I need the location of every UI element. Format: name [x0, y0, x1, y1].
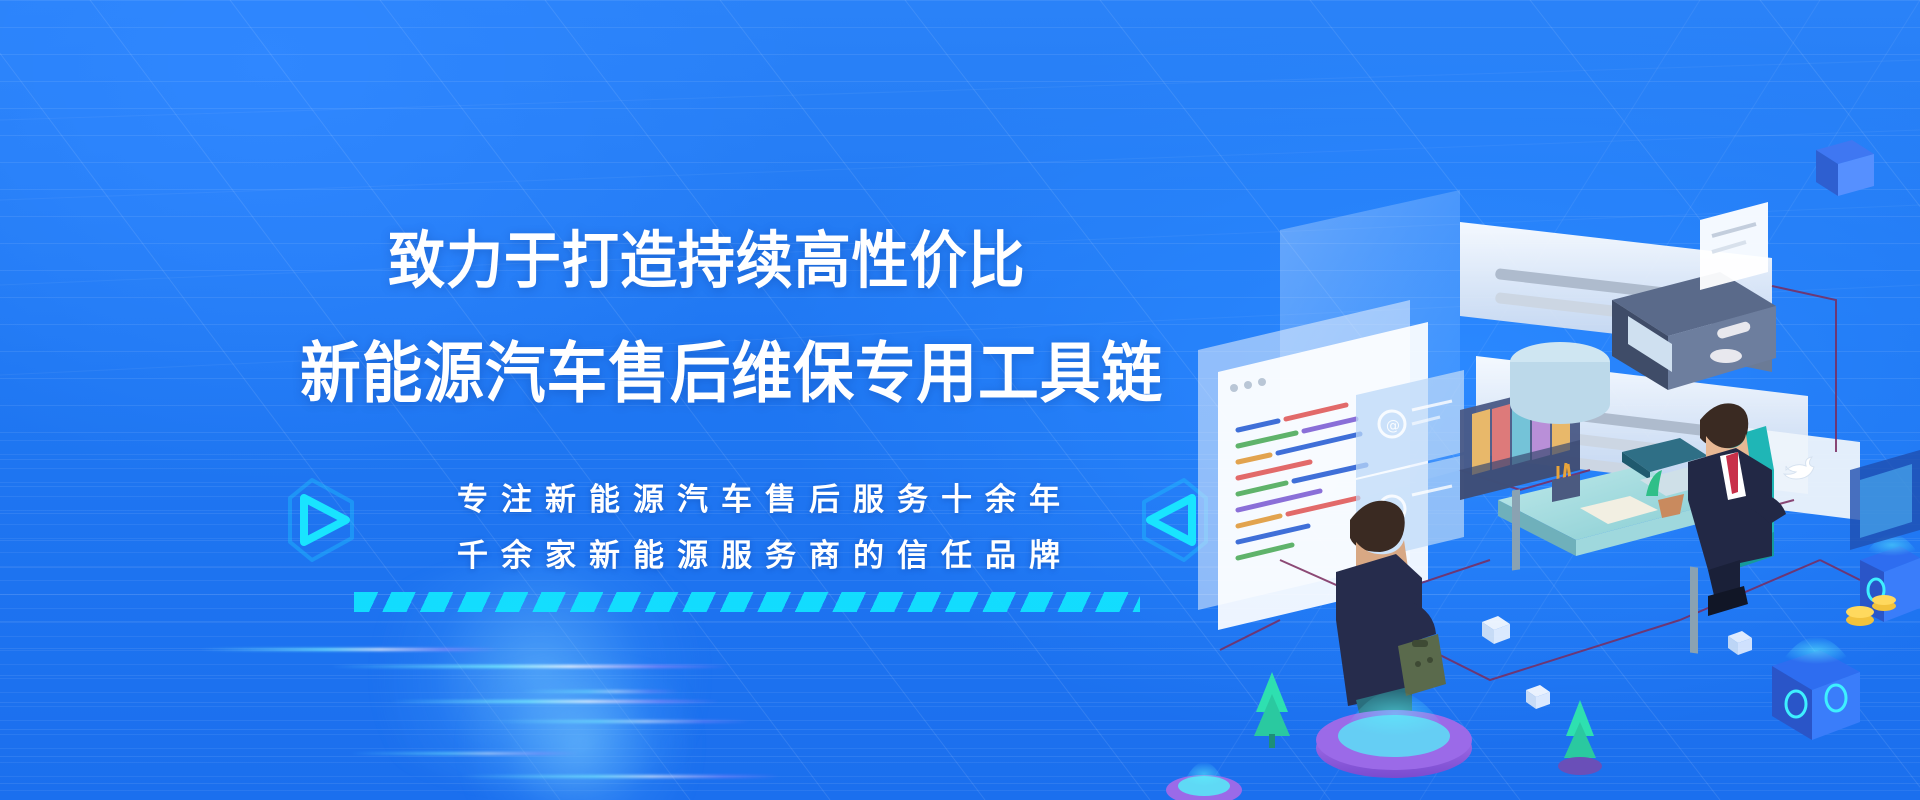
purple-podium	[1316, 691, 1472, 778]
floating-small-cube	[1728, 631, 1752, 655]
hero-banner: 致力于打造持续高性价比 新能源汽车售后维保专用工具链 专注新能源汽车售后服务十余…	[0, 0, 1920, 800]
purple-podium-small	[1166, 762, 1242, 800]
server-cylinder	[1510, 342, 1610, 424]
isometric-business-teamwork-illustration: @ @	[1160, 0, 1920, 800]
decorative-tree	[1558, 700, 1602, 775]
desk-with-laptop	[1498, 466, 1720, 654]
diagonal-stripe-divider	[354, 592, 1140, 612]
svg-text:@: @	[1386, 418, 1400, 434]
data-cube	[1772, 637, 1860, 740]
banner-content: 致力于打造持续高性价比 新能源汽车售后维保专用工具链 专注新能源汽车售后服务十余…	[0, 0, 1220, 800]
floating-cube	[1816, 140, 1874, 196]
play-triangle-right-icon	[282, 474, 360, 566]
subtitle-line-2: 千余家新能源服务商的信任品牌	[370, 530, 1160, 575]
headline-line-2: 新能源汽车售后维保专用工具链	[300, 320, 1163, 416]
decorative-tree	[1254, 672, 1290, 748]
floating-small-cube	[1482, 616, 1510, 644]
subtitle-line-1: 专注新能源汽车售后服务十余年	[370, 474, 1160, 519]
floating-small-cube	[1526, 685, 1550, 709]
headline-line-1: 致力于打造持续高性价比	[388, 210, 1026, 300]
monitor	[1850, 450, 1920, 550]
subtitle-block: 专注新能源汽车售后服务十余年 千余家新能源服务商的信任品牌	[300, 468, 1220, 618]
